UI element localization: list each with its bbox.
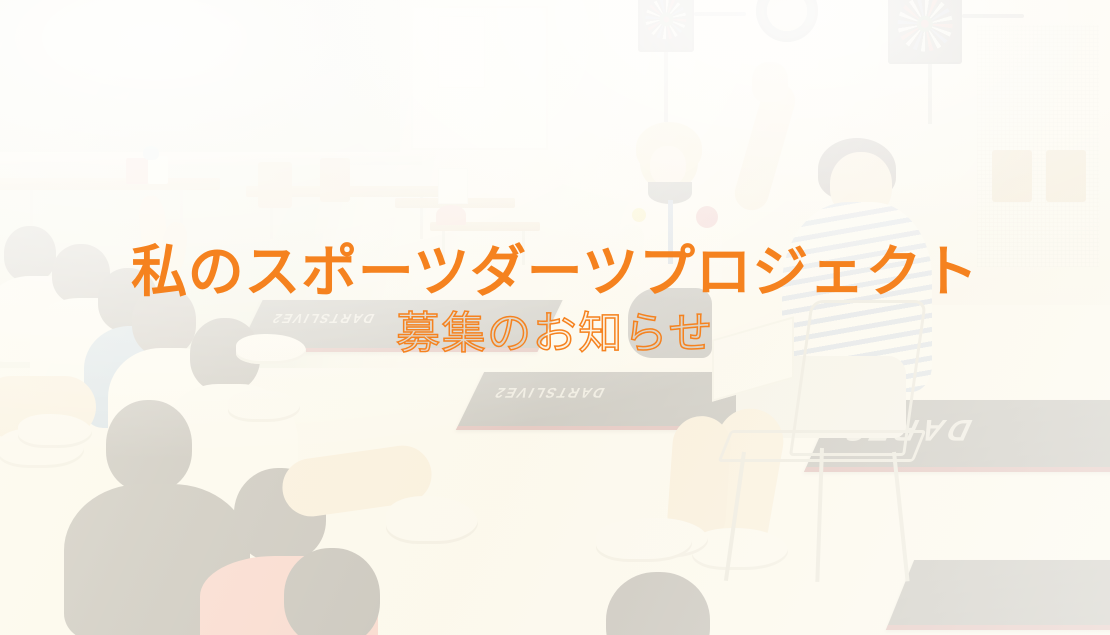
hero-title: 私のスポーツダーツプロジェクト <box>0 243 1110 301</box>
hero-subtitle: 募集のお知らせ <box>0 311 1110 357</box>
hero-banner: DARTSLIVE2 DARTSLIVE2 DARTS <box>0 0 1110 635</box>
hero-caption: 私のスポーツダーツプロジェクト 募集のお知らせ <box>0 243 1110 357</box>
